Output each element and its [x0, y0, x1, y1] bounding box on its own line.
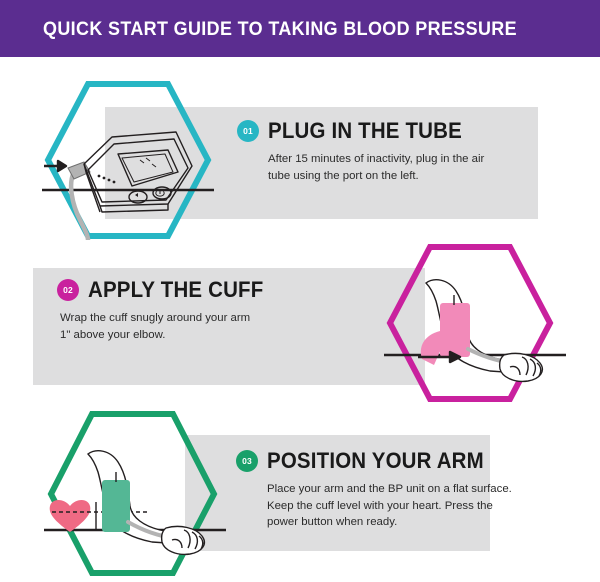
step-badge-1: 01 [237, 120, 259, 142]
step-text-2: 02 APPLY THE CUFF Wrap the cuff snugly a… [57, 279, 357, 343]
step-text-3: 03 POSITION YOUR ARM Place your arm and … [236, 450, 536, 531]
illustration-bp-monitor-tube-port [28, 80, 228, 240]
step-badge-3: 03 [236, 450, 258, 472]
cuff-body [102, 480, 130, 532]
step-heading-2: 02 APPLY THE CUFF [57, 279, 357, 301]
step-title-2: APPLY THE CUFF [88, 279, 263, 301]
step-row-3: 03 POSITION YOUR ARM Place your arm and … [0, 410, 600, 577]
illustration-arm-cuff-heart-level [30, 410, 235, 577]
cuff-body [440, 303, 470, 357]
step-body-3: Place your arm and the BP unit on a flat… [267, 481, 536, 531]
infographic-page: QUICK START GUIDE TO TAKING BLOOD PRESSU… [0, 0, 600, 577]
air-tube [71, 172, 88, 240]
step-body-2: Wrap the cuff snugly around your arm 1" … [60, 310, 357, 343]
step-title-1: PLUG IN THE TUBE [268, 120, 462, 142]
step-row-2: 02 APPLY THE CUFF Wrap the cuff snugly a… [0, 245, 600, 400]
step-badge-2: 02 [57, 279, 79, 301]
cuff-flap [421, 331, 442, 365]
step-row-1: 01 PLUG IN THE TUBE After 15 minutes of … [0, 80, 600, 240]
header-banner: QUICK START GUIDE TO TAKING BLOOD PRESSU… [0, 0, 600, 57]
heart-icon [50, 500, 91, 532]
illustration-arm-wrapping-cuff [370, 243, 570, 403]
step-title-3: POSITION YOUR ARM [267, 450, 484, 472]
hand-fist [500, 353, 543, 381]
bp-monitor-device [84, 132, 192, 212]
step-heading-3: 03 POSITION YOUR ARM [236, 450, 536, 472]
step-heading-1: 01 PLUG IN THE TUBE [237, 120, 537, 142]
step-body-1: After 15 minutes of inactivity, plug in … [268, 151, 537, 184]
step-text-1: 01 PLUG IN THE TUBE After 15 minutes of … [237, 120, 537, 184]
page-title: QUICK START GUIDE TO TAKING BLOOD PRESSU… [43, 18, 517, 41]
